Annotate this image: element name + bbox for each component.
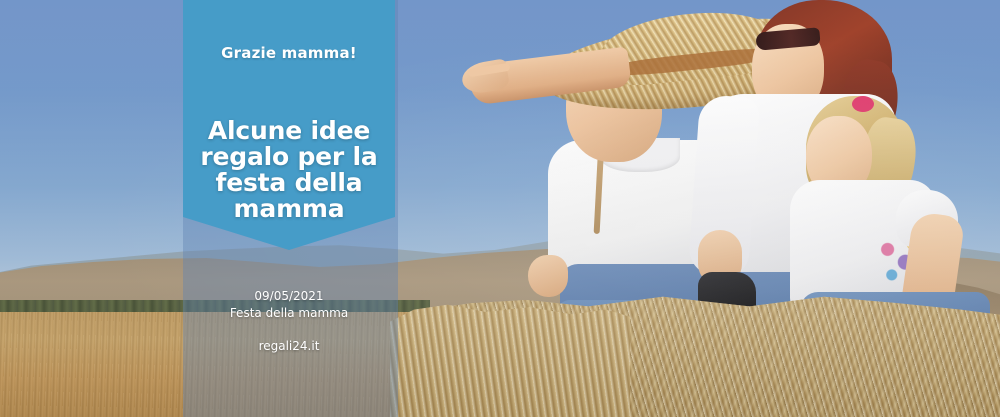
kicker-text: Grazie mamma! bbox=[183, 44, 395, 62]
girl-hair-tie bbox=[852, 96, 874, 112]
site-name[interactable]: regali24.it bbox=[183, 338, 395, 355]
meta-block: 09/05/2021 Festa della mamma regali24.it bbox=[183, 288, 395, 355]
headline-text: Alcune idee regalo per la festa della ma… bbox=[183, 118, 395, 222]
background-photo bbox=[0, 0, 1000, 417]
boy-resting-hand bbox=[528, 255, 568, 297]
promo-banner: Grazie mamma! Alcune idee regalo per la … bbox=[0, 0, 1000, 417]
hay-bale-front bbox=[390, 300, 630, 417]
occasion-label: Festa della mamma bbox=[230, 306, 348, 320]
publish-date: 09/05/2021 bbox=[254, 289, 323, 303]
